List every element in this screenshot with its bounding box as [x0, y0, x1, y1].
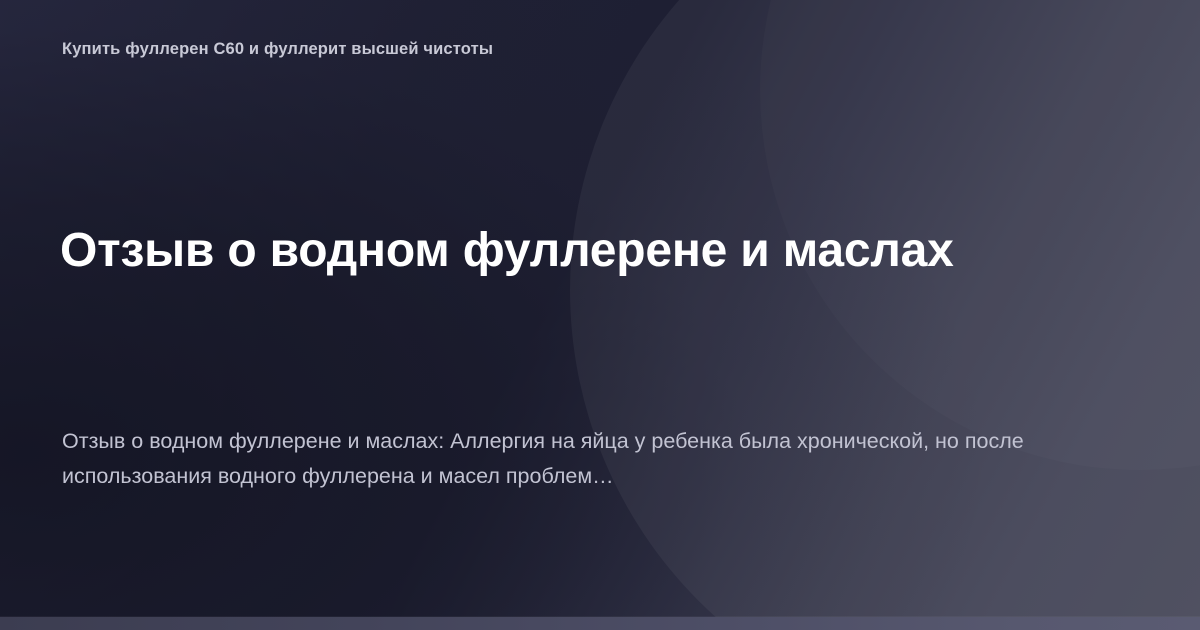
page-title: Отзыв о водном фуллерене и маслах [60, 222, 1140, 280]
footer-accent-bar [0, 617, 1200, 630]
site-name: Купить фуллерен C60 и фуллерит высшей чи… [62, 40, 493, 59]
social-preview-card: Купить фуллерен C60 и фуллерит высшей чи… [0, 0, 1200, 630]
page-description: Отзыв о водном фуллерене и маслах: Аллер… [62, 424, 1140, 494]
card-content: Купить фуллерен C60 и фуллерит высшей чи… [0, 0, 1200, 630]
